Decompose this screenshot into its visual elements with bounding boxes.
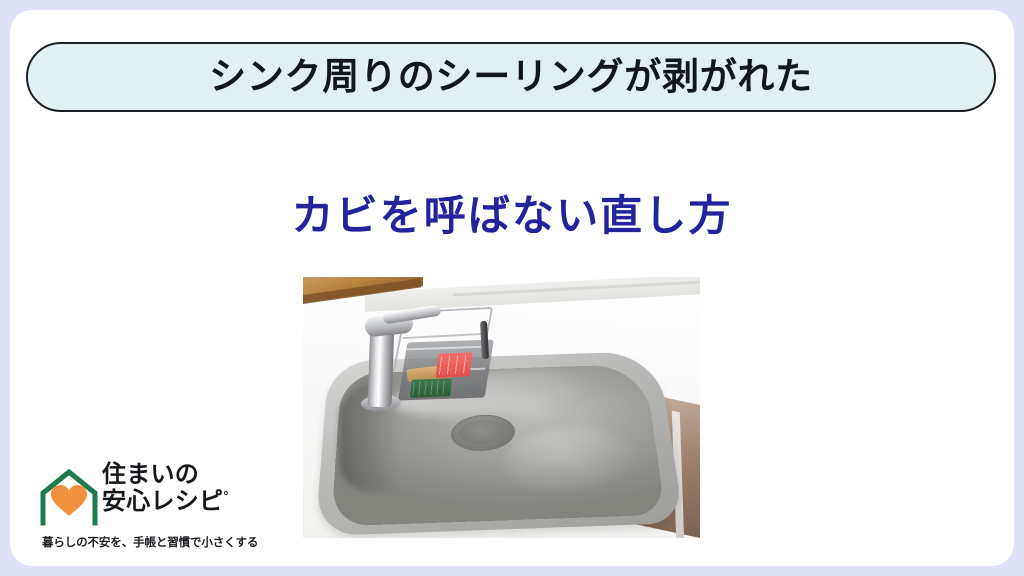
page-title: シンク周りのシーリングが剥がれた xyxy=(209,58,813,95)
sponge-texture xyxy=(439,355,469,374)
basin-highlight-secondary xyxy=(503,427,643,497)
photo-canvas xyxy=(303,277,700,538)
header-banner: シンク周りのシーリングが剥がれた xyxy=(26,42,996,112)
logo-line-1: 住まいの xyxy=(102,462,268,489)
slide-card: シンク周りのシーリングが剥がれた カビを呼ばない直し方 xyxy=(10,10,1014,566)
slide-frame: シンク周りのシーリングが剥がれた カビを呼ばない直し方 xyxy=(0,0,1024,576)
logo-tagline: 暮らしの不安を、手帳と習慣で小さくする xyxy=(42,534,268,550)
logo-degree-mark: ° xyxy=(223,488,228,503)
logo-line-2: 安心レシピ° xyxy=(102,489,268,516)
sink-photo xyxy=(303,277,700,538)
house-heart-icon xyxy=(38,466,100,528)
logo-wordmark: 住まいの 安心レシピ° xyxy=(102,462,268,516)
brand-logo: 住まいの 安心レシピ° 暮らしの不安を、手帳と習慣で小さくする xyxy=(38,462,268,554)
logo-line-2-text: 安心レシピ xyxy=(102,488,223,515)
brush-texture xyxy=(412,380,450,395)
subtitle-text: カビを呼ばない直し方 xyxy=(10,193,1014,239)
